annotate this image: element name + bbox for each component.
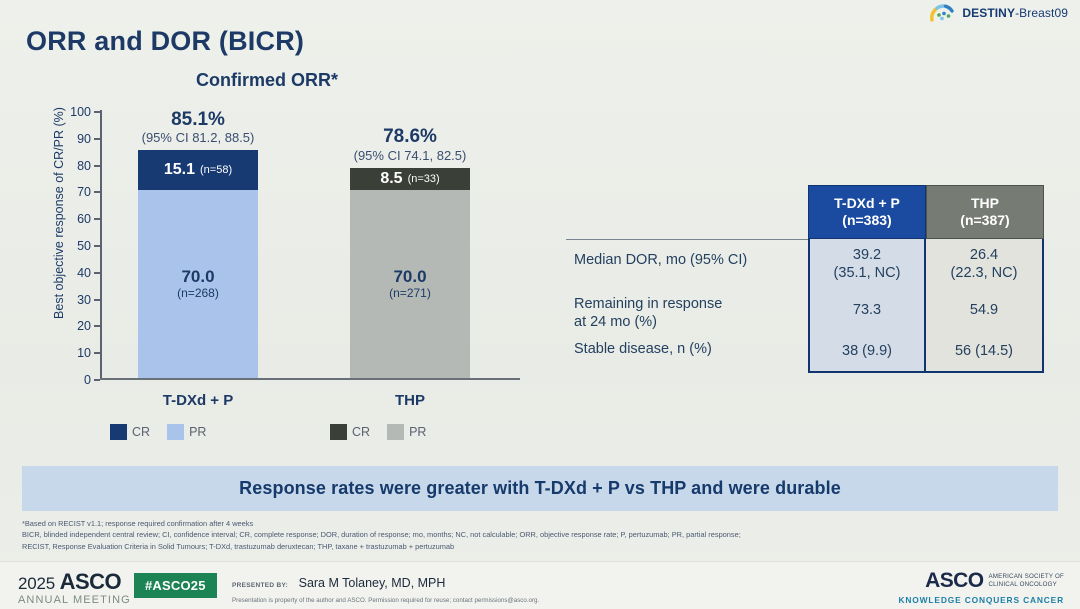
bar-thp: 78.6% (95% CI 74.1, 82.5) 8.5 (n=33) 70.… [350, 168, 470, 378]
y-tick [94, 165, 100, 167]
takeaway-text: Response rates were greater with T-DXd +… [239, 478, 841, 499]
takeaway-banner: Response rates were greater with T-DXd +… [22, 466, 1058, 511]
legend-label-cr: CR [352, 425, 370, 439]
y-tick [94, 218, 100, 220]
y-tick-label: 50 [77, 239, 91, 253]
table-header-spacer [566, 185, 808, 239]
permission-note: Presentation is property of the author a… [232, 597, 539, 604]
table-body: Median DOR, mo (95% CI) Remaining in res… [566, 239, 1050, 373]
cr-count: (n=58) [200, 164, 232, 176]
x-axis-label-t-dxd-p: T-DXd + P [118, 392, 278, 409]
table-cell: 39.2 (35.1, NC) [810, 239, 924, 283]
presented-by-label: PRESENTED BY: [232, 582, 288, 589]
table-cell: 73.3 [810, 283, 924, 328]
orr-bar-chart: Best objective response of CR/PR (%) 010… [26, 100, 526, 400]
col-n: (n=387) [960, 212, 1009, 230]
bar-segment-pr: 70.0 (n=271) [350, 190, 470, 378]
presented-row: PRESENTED BY: Sara M Tolaney, MD, MPH [232, 574, 539, 592]
table-header-row: T-DXd + P (n=383) THP (n=387) [566, 185, 1050, 239]
table-row: Remaining in response at 24 mo (%) [566, 288, 808, 333]
cell-line2: (35.1, NC) [834, 265, 901, 281]
bar-segment-cr: 15.1 (n=58) [138, 150, 258, 190]
chart-title: Confirmed ORR* [196, 70, 338, 91]
hashtag-badge: #ASCO25 [134, 573, 217, 598]
meeting-subtitle: ANNUAL MEETING [18, 595, 131, 606]
legend-swatch-cr [330, 424, 347, 440]
cr-value: 8.5 [380, 170, 402, 188]
bar-total-pct: 85.1% [83, 109, 313, 131]
pr-value: 70.0 [181, 268, 214, 286]
cell-line2: (22.3, NC) [951, 265, 1018, 281]
table-column-thp: 26.4 (22.3, NC) 54.9 56 (14.5) [926, 239, 1044, 373]
slide: DESTINY-Breast09 ORR and DOR (BICR) Conf… [0, 0, 1080, 609]
y-tick-label: 30 [77, 293, 91, 307]
y-tick-label: 0 [84, 373, 91, 387]
slide-footer: 2025 ASCO ANNUAL MEETING #ASCO25 PRESENT… [0, 561, 1080, 609]
y-tick-label: 70 [77, 185, 91, 199]
pr-value: 70.0 [393, 268, 426, 286]
bar-total-ci: (95% CI 74.1, 82.5) [295, 148, 525, 164]
table-column-t-dxd-p: 39.2 (35.1, NC) 73.3 38 (9.9) [808, 239, 926, 373]
brand-tagline: KNOWLEDGE CONQUERS CANCER [899, 595, 1065, 605]
y-axis [100, 110, 102, 380]
bar-segment-pr: 70.0 (n=268) [138, 190, 258, 378]
col-name: THP [971, 195, 999, 213]
table-cell: 38 (9.9) [810, 328, 924, 368]
cell-line1: 26.4 [970, 247, 998, 263]
y-tick-label: 20 [77, 319, 91, 333]
legend-label-pr: PR [409, 425, 426, 439]
row-label: Stable disease, n (%) [574, 341, 712, 357]
footnote-line-2: BICR, blinded independent central review… [22, 529, 1062, 540]
y-tick [94, 352, 100, 354]
legend-group-thp: CR PR [330, 424, 426, 440]
x-axis-label-thp: THP [330, 392, 490, 409]
legend-swatch-pr [387, 424, 404, 440]
brand-sub-line-1: AMERICAN SOCIETY OF [988, 573, 1064, 580]
meeting-org: ASCO [60, 569, 122, 594]
bar-segment-cr: 8.5 (n=33) [350, 168, 470, 191]
bar-caption-t-dxd-p: 85.1% (95% CI 81.2, 88.5) [83, 109, 313, 146]
chart-legend: CR PR CR PR [26, 424, 526, 450]
footnote-line-3: RECIST, Response Evaluation Criteria in … [22, 541, 1062, 552]
row-label: Median DOR, mo (95% CI) [574, 252, 747, 268]
y-tick [94, 191, 100, 193]
table-header-thp: THP (n=387) [926, 185, 1044, 239]
cr-value: 15.1 [164, 161, 195, 179]
table-cell: 26.4 (22.3, NC) [926, 239, 1042, 283]
table-row-labels: Median DOR, mo (95% CI) Remaining in res… [566, 239, 808, 373]
table-cell: 54.9 [926, 283, 1042, 328]
y-tick [94, 272, 100, 274]
presented-by-block: PRESENTED BY: Sara M Tolaney, MD, MPH Pr… [232, 574, 539, 604]
bar-t-dxd-p: 85.1% (95% CI 81.2, 88.5) 15.1 (n=58) 70… [138, 150, 258, 378]
footnote-line-1: *Based on RECIST v1.1; response required… [22, 518, 1062, 529]
row-label-cont: at 24 mo (%) [574, 314, 657, 330]
y-tick-label: 60 [77, 212, 91, 226]
destiny-arc-logo-icon [930, 4, 956, 22]
row-label: Remaining in response [574, 296, 722, 312]
asco-annual-meeting-logo: 2025 ASCO ANNUAL MEETING [18, 571, 131, 606]
table-header-t-dxd-p: T-DXd + P (n=383) [808, 185, 926, 239]
y-tick [94, 299, 100, 301]
bar-total-ci: (95% CI 81.2, 88.5) [83, 130, 313, 146]
pr-count: (n=271) [389, 286, 431, 300]
col-name: T-DXd + P [834, 195, 900, 213]
plot-area: 0102030405060708090100 85.1% (95% CI 81.… [100, 110, 520, 380]
meeting-title-row: 2025 ASCO [18, 571, 131, 593]
y-tick-label: 10 [77, 346, 91, 360]
meeting-year: 2025 [18, 574, 55, 593]
bar-total-pct: 78.6% [295, 126, 525, 148]
y-tick [94, 245, 100, 247]
table-row: Stable disease, n (%) [566, 333, 808, 373]
bar-caption-thp: 78.6% (95% CI 74.1, 82.5) [295, 126, 525, 163]
legend-label-cr: CR [132, 425, 150, 439]
legend-swatch-pr [167, 424, 184, 440]
legend-group-t-dxd-p: CR PR [110, 424, 206, 440]
x-axis [100, 378, 520, 380]
y-axis-label: Best objective response of CR/PR (%) [52, 88, 66, 338]
dor-summary-table: T-DXd + P (n=383) THP (n=387) Median DOR… [566, 185, 1050, 373]
col-n: (n=383) [842, 212, 891, 230]
brand-row: ASCO AMERICAN SOCIETY OF CLINICAL ONCOLO… [899, 570, 1065, 591]
legend-label-pr: PR [189, 425, 206, 439]
asco-brand-logo: ASCO AMERICAN SOCIETY OF CLINICAL ONCOLO… [899, 570, 1065, 605]
y-tick [94, 379, 100, 381]
brand-subtitle: AMERICAN SOCIETY OF CLINICAL ONCOLOGY [988, 570, 1064, 590]
table-row: Median DOR, mo (95% CI) [566, 244, 808, 288]
table-cell: 56 (14.5) [926, 328, 1042, 368]
y-tick-label: 80 [77, 159, 91, 173]
presenter-name: Sara M Tolaney, MD, MPH [299, 576, 446, 590]
cr-count: (n=33) [408, 173, 440, 185]
brand-wordmark: ASCO [925, 570, 983, 591]
pr-count: (n=268) [177, 286, 219, 300]
footnotes: *Based on RECIST v1.1; response required… [22, 518, 1062, 552]
page-title: ORR and DOR (BICR) [26, 26, 304, 57]
brand-sub-line-2: CLINICAL ONCOLOGY [988, 581, 1057, 588]
study-name: DESTINY-Breast09 [962, 6, 1068, 20]
y-tick [94, 325, 100, 327]
legend-swatch-cr [110, 424, 127, 440]
y-tick-label: 40 [77, 266, 91, 280]
study-logo: DESTINY-Breast09 [930, 4, 1068, 22]
cell-line1: 39.2 [853, 247, 881, 263]
